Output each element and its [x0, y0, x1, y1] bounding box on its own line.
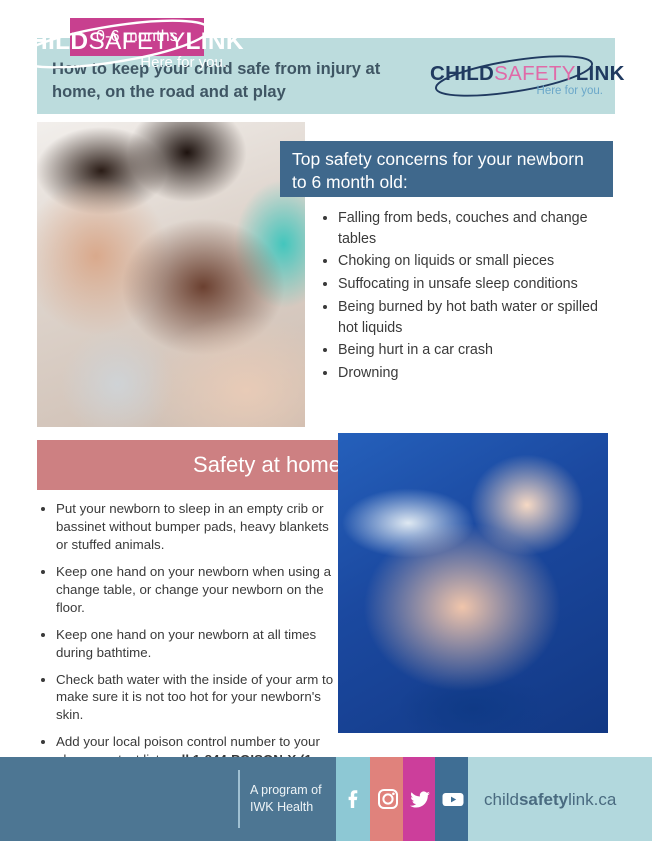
- list-item: Being burned by hot bath water or spille…: [338, 297, 617, 338]
- concerns-heading: Top safety concerns for your newborn to …: [280, 141, 613, 197]
- logo-word-safety: SAFETY: [88, 28, 185, 55]
- childsafetylink-logo-header: CHILDSAFETYLINK Here for you.: [430, 52, 605, 104]
- list-item: Keep one hand on your newborn when using…: [56, 563, 334, 617]
- logo-wordmark: CHILDSAFETYLINK: [12, 28, 244, 56]
- logo-word-safety: SAFETY: [494, 62, 576, 85]
- logo-tagline: Here for you.: [140, 54, 227, 71]
- safety-at-home-heading: Safety at home: [37, 440, 353, 490]
- program-credit-line2: IWK Health: [250, 799, 322, 816]
- family-photo: [37, 122, 305, 427]
- website-url[interactable]: childsafetylink.ca: [484, 790, 616, 810]
- list-item-text: Check bath water with the inside of your…: [56, 672, 333, 723]
- brochure-page: 0-6 months How to keep your child safe f…: [0, 0, 652, 841]
- logo-tagline: Here for you.: [537, 85, 603, 97]
- youtube-icon[interactable]: [440, 786, 466, 812]
- list-item: Drowning: [338, 363, 617, 384]
- logo-word-child: CHILD: [12, 28, 88, 55]
- list-item: Choking on liquids or small pieces: [338, 251, 617, 272]
- bath-photo-image: [338, 433, 608, 733]
- list-item-text: Put your newborn to sleep in an empty cr…: [56, 501, 329, 552]
- logo-word-child: CHILD: [430, 62, 494, 85]
- logo-word-link: LINK: [185, 28, 243, 55]
- family-photo-image: [37, 122, 305, 427]
- list-item: Keep one hand on your newborn at all tim…: [56, 626, 334, 662]
- list-item: Suffocating in unsafe sleep conditions: [338, 274, 617, 295]
- facebook-icon[interactable]: [341, 786, 367, 812]
- childsafetylink-logo-footer: CHILDSAFETYLINK Here for you.: [12, 18, 227, 70]
- list-item: Check bath water with the inside of your…: [56, 671, 334, 725]
- bath-photo: [338, 433, 608, 733]
- instagram-icon[interactable]: [375, 786, 401, 812]
- list-item: Being hurt in a car crash: [338, 340, 617, 361]
- list-item-text: Keep one hand on your newborn at all tim…: [56, 627, 316, 660]
- list-item: Falling from beds, couches and change ta…: [338, 208, 617, 249]
- concerns-list: Falling from beds, couches and change ta…: [322, 208, 617, 386]
- twitter-icon[interactable]: [407, 786, 433, 812]
- footer-divider: [238, 770, 240, 828]
- safety-at-home-list: Put your newborn to sleep in an empty cr…: [40, 500, 334, 796]
- list-item: Put your newborn to sleep in an empty cr…: [56, 500, 334, 554]
- url-part-safety: safety: [519, 790, 568, 809]
- logo-wordmark: CHILDSAFETYLINK: [430, 62, 625, 86]
- program-credit-line1: A program of: [250, 782, 322, 799]
- logo-word-link: LINK: [576, 62, 625, 85]
- url-part-child: child: [484, 790, 519, 809]
- list-item-text: Keep one hand on your newborn when using…: [56, 564, 331, 615]
- program-credit: A program of IWK Health: [250, 782, 322, 816]
- url-part-link: link.ca: [568, 790, 616, 809]
